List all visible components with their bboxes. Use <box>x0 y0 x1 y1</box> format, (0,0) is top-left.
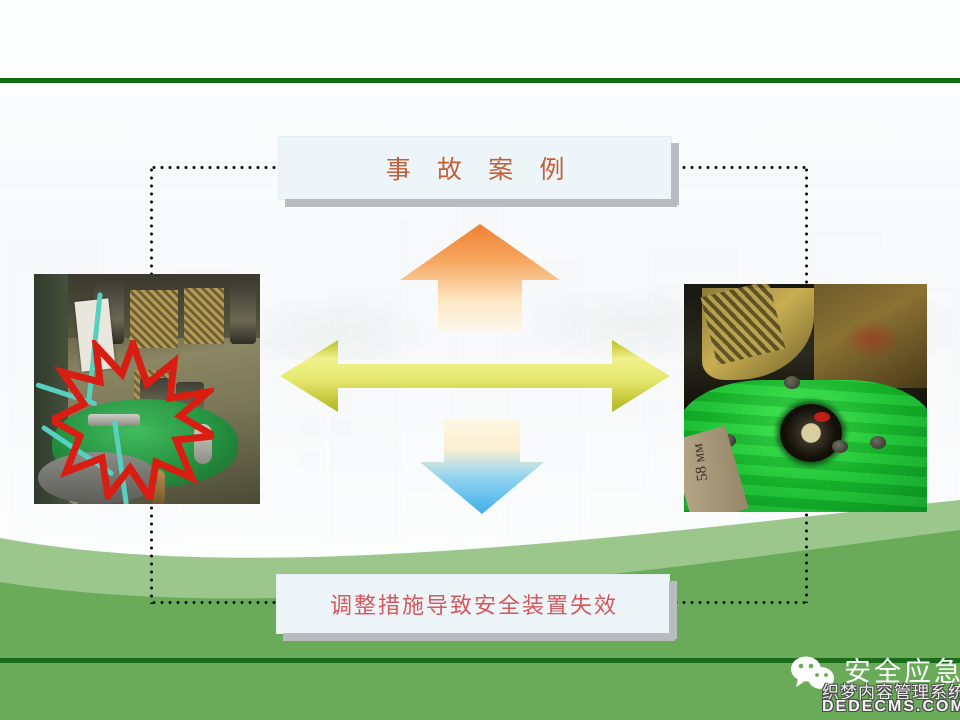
conclusion-text-box[interactable]: 调整措施导致安全装置失效 <box>276 574 670 634</box>
conclusion-text: 调整措施导致安全装置失效 <box>277 575 669 633</box>
title-text-box[interactable]: 事 故 案 例 <box>278 136 672 200</box>
connector-top-right-horizontal <box>672 166 808 169</box>
title-box-shadow <box>285 199 677 207</box>
connector-top-right-vertical <box>805 166 808 288</box>
connector-bottom-right-horizontal <box>672 601 808 604</box>
accident-photo-left[interactable] <box>34 274 260 504</box>
top-frame-band <box>0 0 960 78</box>
right-photo-content: 58 мм <box>684 284 927 512</box>
conclusion-box-side-shadow <box>669 581 677 639</box>
double-headed-arrow <box>280 318 670 414</box>
connector-bottom-left-vertical <box>150 504 153 604</box>
red-starburst-annotation <box>52 340 214 500</box>
connector-bottom-left-horizontal <box>150 601 282 604</box>
watermark: 安全应急 织梦内容管理系统 DEDECMS.COM <box>788 648 956 712</box>
down-arrow <box>420 420 544 516</box>
title-text: 事 故 案 例 <box>279 137 671 199</box>
ruler-label: 58 мм <box>690 442 712 482</box>
connector-bottom-right-vertical <box>805 511 808 603</box>
watermark-overlay-line2: DEDECMS.COM <box>822 698 960 716</box>
slide-canvas: 58 мм <box>0 0 960 720</box>
top-green-rule <box>0 78 960 83</box>
connector-top-left-horizontal <box>150 166 280 169</box>
accident-photo-right[interactable]: 58 мм <box>684 284 927 512</box>
left-photo-content <box>34 274 260 504</box>
conclusion-box-shadow <box>283 633 675 641</box>
connector-top-left-vertical <box>150 166 153 278</box>
title-box-side-shadow <box>671 143 679 205</box>
